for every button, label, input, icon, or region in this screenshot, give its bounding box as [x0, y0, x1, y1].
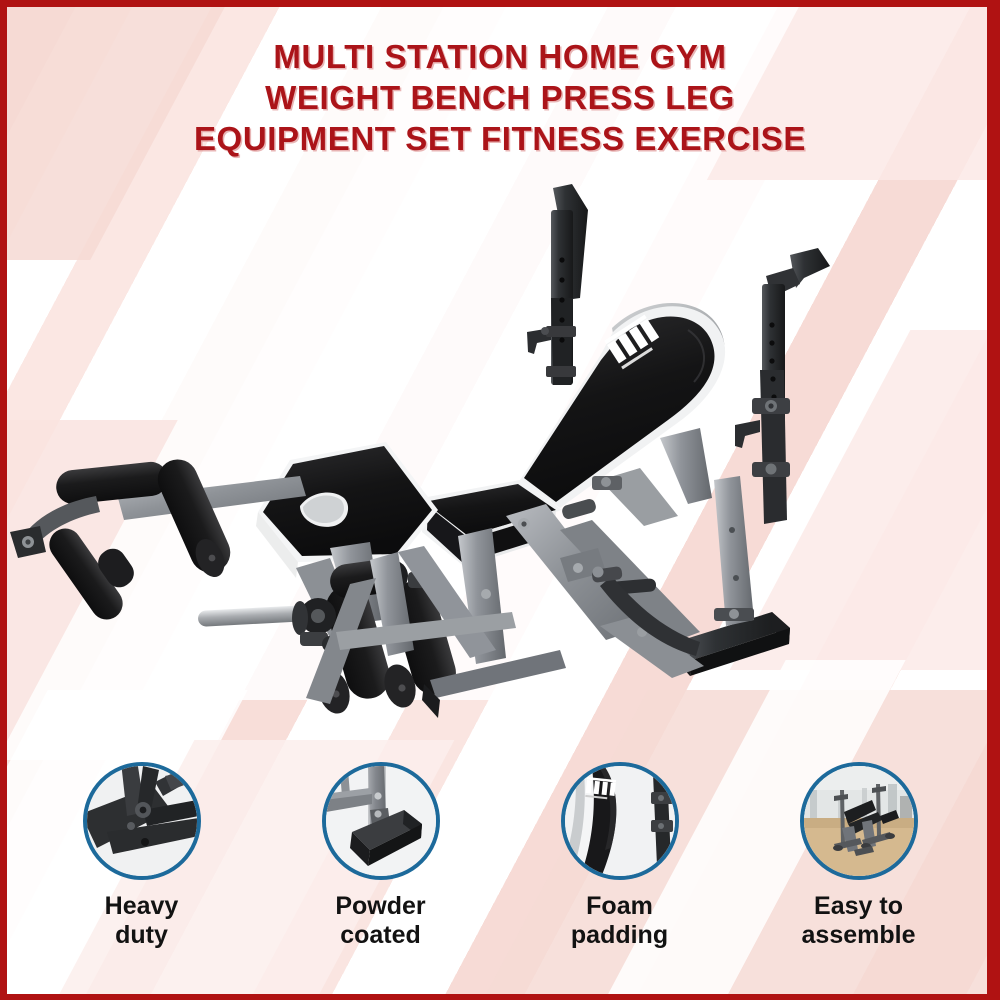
feature-label-heavy-duty: Heavy duty — [105, 892, 179, 950]
rack-post-front — [735, 248, 830, 524]
product-marketing-poster: MULTI STATION HOME GYM WEIGHT BENCH PRES… — [0, 0, 1000, 1000]
poster-border-top — [0, 0, 1000, 7]
feature-image-heavy-duty — [83, 762, 201, 880]
product-image — [0, 180, 1000, 740]
title-line-2: WEIGHT BENCH PRESS LEG — [0, 77, 1000, 118]
feature-heavy-duty: Heavy duty — [37, 762, 247, 950]
poster-border-left — [0, 0, 7, 1000]
rack-post-rear — [527, 184, 588, 385]
poster-border-right — [987, 0, 1000, 1000]
feature-powder-coated: Powder coated — [276, 762, 486, 950]
feature-foam-padding: Foam padding — [515, 762, 725, 950]
feature-label-easy-assemble: Easy to assemble — [802, 892, 916, 950]
feature-label-powder-coated: Powder coated — [335, 892, 425, 950]
poster-border-bottom — [0, 994, 1000, 1000]
weight-bench-illustration — [0, 180, 1000, 740]
feature-image-easy-assemble — [800, 762, 918, 880]
powder-coated-leg-closeup-icon — [326, 766, 436, 876]
poster-title: MULTI STATION HOME GYM WEIGHT BENCH PRES… — [0, 36, 1000, 159]
foam-backrest-closeup-icon — [565, 766, 675, 876]
assembled-bench-in-gym-icon — [804, 766, 914, 876]
frame-joint-closeup-icon — [87, 766, 197, 876]
feature-image-powder-coated — [322, 762, 440, 880]
feature-badge-row: Heavy duty — [22, 762, 978, 987]
title-line-1: MULTI STATION HOME GYM — [0, 36, 1000, 77]
feature-label-foam-padding: Foam padding — [571, 892, 668, 950]
title-line-3: EQUIPMENT SET FITNESS EXERCISE — [0, 118, 1000, 159]
feature-easy-assemble: Easy to assemble — [754, 762, 964, 950]
feature-image-foam-padding — [561, 762, 679, 880]
